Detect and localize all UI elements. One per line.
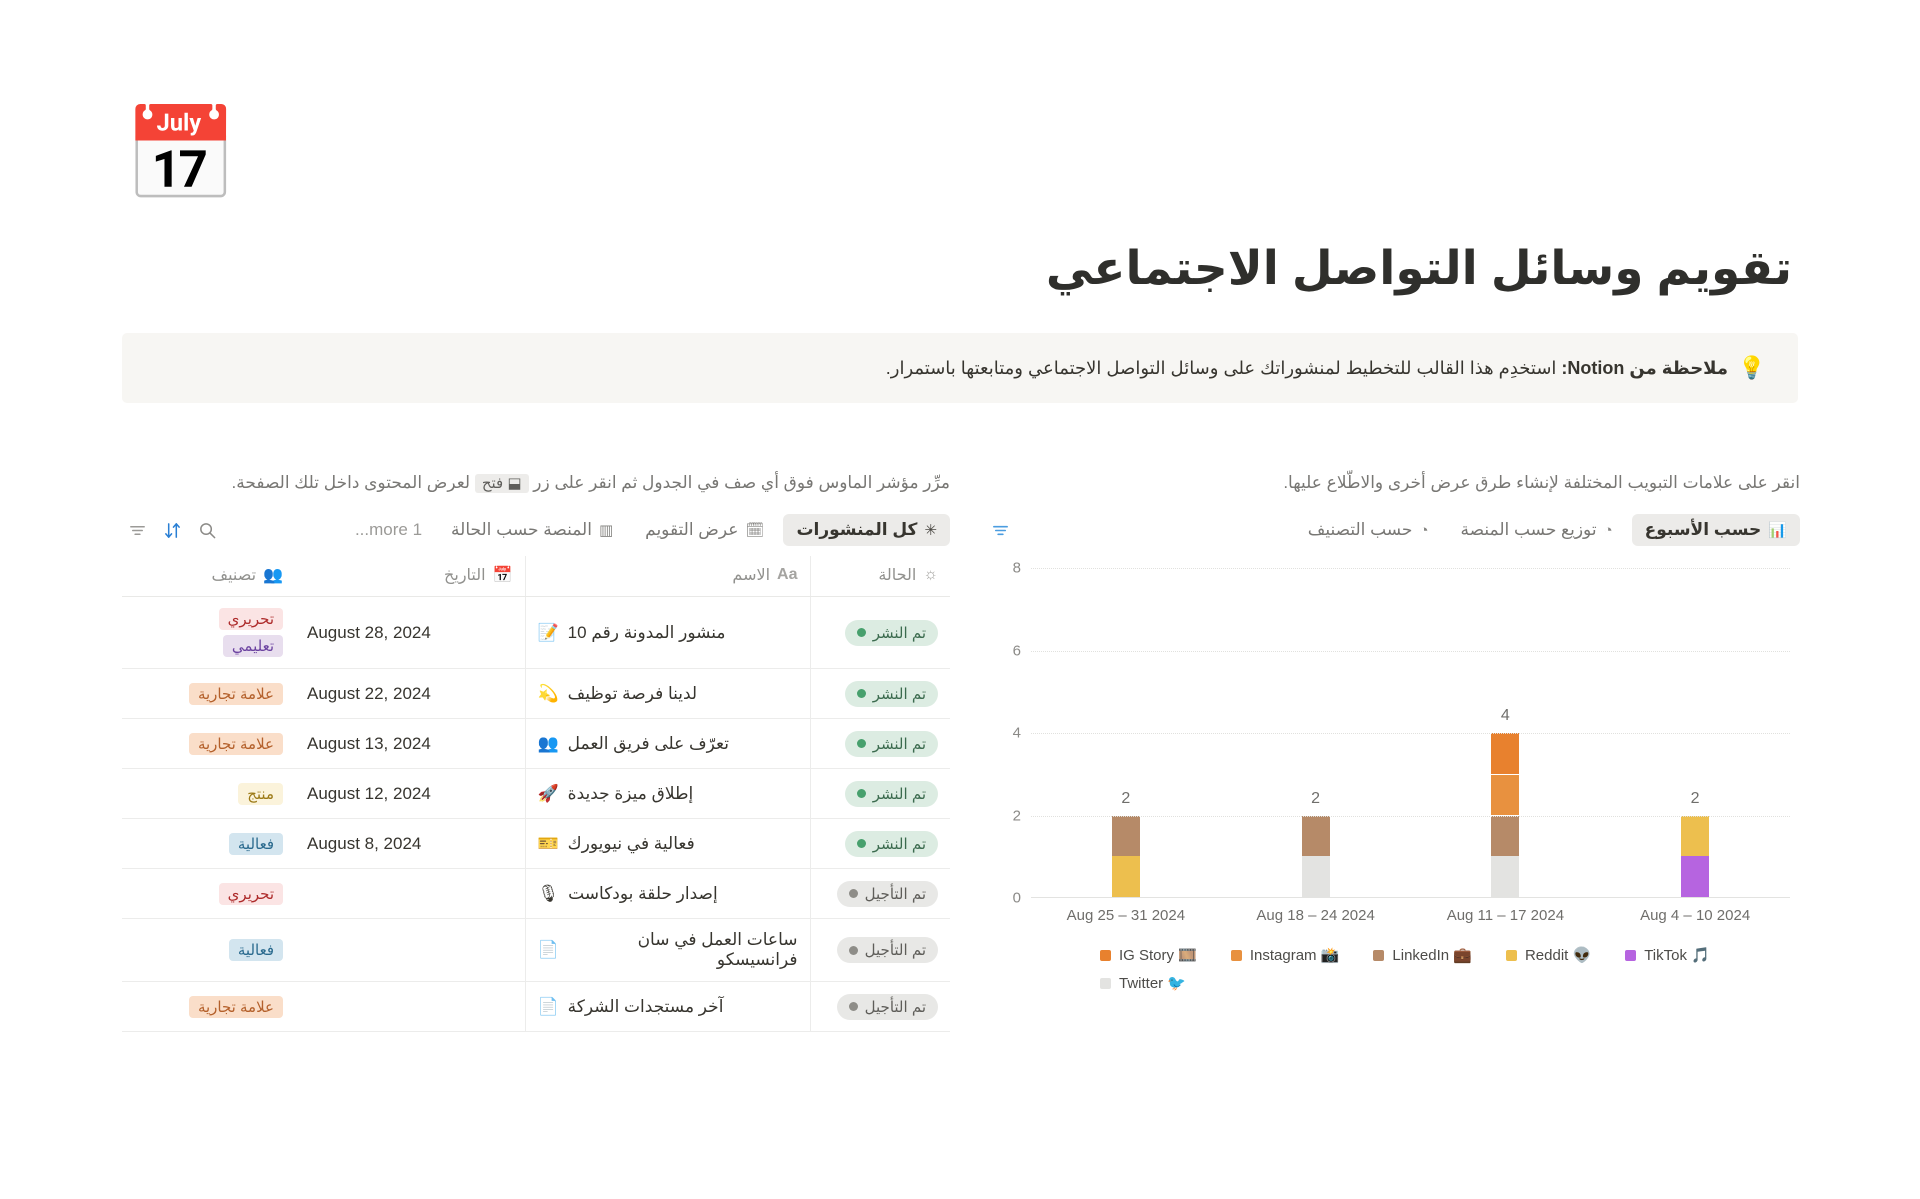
tab-calendar-view-label: عرض التقويم: [645, 520, 738, 540]
chart-y-tick-label: 0: [991, 890, 1021, 907]
post-date: August 13, 2024: [307, 734, 513, 754]
chart-legend-item[interactable]: IG Story 🎞️: [1100, 946, 1197, 964]
page-icon[interactable]: 📅: [128, 100, 238, 210]
status-badge: تم النشر: [845, 781, 938, 807]
status-label: تم النشر: [873, 624, 926, 642]
chart-gridline: [1031, 733, 1790, 734]
chart-gridline: [1031, 568, 1790, 569]
legend-label: TikTok 🎵: [1644, 946, 1710, 964]
chart-toolbar: [985, 521, 1010, 540]
legend-swatch-twitter: [1100, 978, 1111, 989]
more-views-button[interactable]: 1 more...: [345, 514, 432, 546]
right-column: انقر على علامات التبويب المختلفة لإنشاء …: [985, 470, 1800, 992]
notion-page: 📅 تقويم وسائل التواصل الاجتماعي ملاحظة م…: [0, 0, 1920, 1199]
status-badge: تم التأجيل: [837, 881, 938, 907]
chart-stacked-bar[interactable]: [1112, 815, 1140, 898]
status-badge: تم التأجيل: [837, 994, 938, 1020]
chart-y-tick-label: 6: [991, 642, 1021, 659]
tag-chip: علامة تجارية: [189, 996, 283, 1018]
chart-bar-segment-ig_story[interactable]: [1491, 732, 1519, 773]
callout-text: ملاحظة من Notion: استخدِم هذا القالب للت…: [148, 355, 1738, 382]
status-label: تم النشر: [873, 785, 926, 803]
status-dot-icon: [849, 946, 858, 955]
chart-x-tick-label: Aug 4 – 10 2024: [1600, 907, 1790, 924]
chart-y-tick-label: 4: [991, 725, 1021, 742]
status-badge: تم النشر: [845, 620, 938, 646]
bar-chart-icon: 📊: [1768, 521, 1787, 539]
callout-body: استخدِم هذا القالب للتخطيط لمنشوراتك على…: [886, 358, 1557, 378]
tab-by-platform[interactable]: ◔ توزيع حسب المنصة: [1448, 514, 1626, 546]
chart-legend-item[interactable]: LinkedIn 💼: [1373, 946, 1472, 964]
tab-by-week-label: حسب الأسبوع: [1645, 520, 1762, 540]
post-title: منشور المدونة رقم 10: [568, 623, 726, 643]
column-header-date[interactable]: 📅 التاريخ: [295, 556, 525, 597]
page-icon: 📄: [538, 940, 559, 960]
column-header-name-label: الاسم: [732, 565, 770, 585]
hint-prefix: مرِّر مؤشر الماوس فوق أي صف في الجدول ثم…: [533, 473, 950, 492]
chart-bar-segment-twitter[interactable]: [1491, 856, 1519, 897]
chart-bar-segment-instagram[interactable]: [1491, 774, 1519, 815]
cell-name[interactable]: 💫لدينا فرصة توظيف: [525, 669, 810, 719]
status-dot-icon: [857, 839, 866, 848]
chart-bar-segment-reddit[interactable]: [1112, 856, 1140, 897]
legend-label: Twitter 🐦: [1119, 974, 1186, 992]
memo-icon: 📝: [538, 623, 559, 643]
column-header-name[interactable]: Aa الاسم: [525, 556, 810, 597]
table-header-row: ☼ الحالة Aa الاسم 📅 التاريخ: [122, 556, 950, 597]
tab-platform-by-status-label: المنصة حسب الحالة: [451, 520, 592, 540]
status-label: تم التأجيل: [865, 941, 926, 959]
filter-icon[interactable]: [128, 521, 147, 540]
chart-bar-value-label: 4: [1475, 707, 1535, 725]
chart-y-tick-label: 8: [991, 560, 1021, 577]
table-row[interactable]: تم النشر👥تعرّف على فريق العملAugust 13, …: [122, 719, 950, 769]
cell-date[interactable]: August 28, 2024: [295, 597, 525, 669]
cell-tag[interactable]: تحريريتعليمي: [122, 597, 295, 669]
search-icon[interactable]: [198, 521, 217, 540]
tab-by-platform-label: توزيع حسب المنصة: [1461, 520, 1597, 540]
chart-hint: انقر على علامات التبويب المختلفة لإنشاء …: [985, 470, 1800, 496]
open-button-hint: ⬓ فتح: [475, 474, 529, 493]
tab-calendar-view[interactable]: 🗓 عرض التقويم: [632, 514, 777, 546]
left-column: مرِّر مؤشر الماوس فوق أي صف في الجدول ثم…: [122, 470, 950, 1032]
calendar-view-icon: 🗓: [745, 521, 764, 539]
cell-status[interactable]: تم التأجيل: [810, 869, 950, 919]
tag-chip: تعليمي: [223, 635, 283, 657]
chart-bar-value-label: 2: [1665, 790, 1725, 808]
asterisk-icon: ✳: [924, 521, 937, 539]
posts-table: ☼ الحالة Aa الاسم 📅 التاريخ: [122, 556, 950, 1032]
chart-gridline: [1031, 816, 1790, 817]
chart-view-tabs: 📊 حسب الأسبوع ◔ توزيع حسب المنصة ◔ حسب ا…: [985, 510, 1800, 550]
cell-date[interactable]: August 8, 2024: [295, 819, 525, 869]
tag-list: علامة تجارية: [134, 996, 283, 1018]
people-icon: 👥: [538, 734, 559, 754]
chart-x-axis-labels: Aug 4 – 10 2024Aug 11 – 17 2024Aug 18 – …: [1031, 907, 1790, 924]
tag-chip: علامة تجارية: [189, 683, 283, 705]
cell-status[interactable]: تم النشر: [810, 597, 950, 669]
post-title: إطلاق ميزة جديدة: [568, 784, 694, 804]
tag-chip: فعالية: [229, 833, 283, 855]
chart-stacked-bar[interactable]: [1491, 732, 1519, 897]
chart-stacked-bar[interactable]: [1302, 815, 1330, 898]
post-title: تعرّف على فريق العمل: [568, 734, 729, 754]
cell-tag[interactable]: تحريري: [122, 869, 295, 919]
tab-by-week[interactable]: 📊 حسب الأسبوع: [1632, 514, 1800, 546]
cell-name[interactable]: 🚀إطلاق ميزة جديدة: [525, 769, 810, 819]
post-title: آخر مستجدات الشركة: [568, 997, 724, 1017]
post-date: August 12, 2024: [307, 784, 513, 804]
legend-label: LinkedIn 💼: [1392, 946, 1472, 964]
tab-all-posts[interactable]: ✳ كل المنشورات: [783, 514, 950, 546]
chart-bar-segment-tiktok[interactable]: [1681, 856, 1709, 897]
chart-bar-segment-reddit[interactable]: [1681, 815, 1709, 856]
cell-name[interactable]: 📝منشور المدونة رقم 10: [525, 597, 810, 669]
table-row[interactable]: تم النشر🚀إطلاق ميزة جديدةAugust 12, 2024…: [122, 769, 950, 819]
tag-chip: فعالية: [229, 939, 283, 961]
status-dot-icon: [849, 889, 858, 898]
cell-status[interactable]: تم التأجيل: [810, 982, 950, 1032]
status-badge: تم التأجيل: [837, 937, 938, 963]
chart-bar-segment-linkedin[interactable]: [1302, 815, 1330, 856]
cell-date[interactable]: [295, 982, 525, 1032]
cell-date[interactable]: August 12, 2024: [295, 769, 525, 819]
cell-status[interactable]: تم النشر: [810, 819, 950, 869]
tag-chip: علامة تجارية: [189, 733, 283, 755]
chart-bar-segment-twitter[interactable]: [1302, 856, 1330, 897]
tag-list: فعالية: [134, 833, 283, 855]
table-hint: مرِّر مؤشر الماوس فوق أي صف في الجدول ثم…: [122, 470, 950, 496]
status-badge: تم النشر: [845, 731, 938, 757]
chart-gridline: [1031, 651, 1790, 652]
status-label: تم التأجيل: [865, 885, 926, 903]
board-view-icon: ▥: [599, 521, 613, 539]
column-header-status[interactable]: ☼ الحالة: [810, 556, 950, 597]
text-type-icon: Aa: [777, 566, 797, 584]
column-header-tag[interactable]: 👥 تصنيف: [122, 556, 295, 597]
table-row[interactable]: تم النشر📝منشور المدونة رقم 10August 28, …: [122, 597, 950, 669]
chart-stacked-bar[interactable]: [1681, 815, 1709, 898]
table-row[interactable]: تم التأجيل📄ساعات العمل في سان فرانسيسكوف…: [122, 919, 950, 982]
tag-list: منتج: [134, 783, 283, 805]
lightbulb-icon: 💡: [1738, 355, 1772, 381]
tag-list: تحريري: [134, 883, 283, 905]
cell-tag[interactable]: علامة تجارية: [122, 669, 295, 719]
page-title: تقويم وسائل التواصل الاجتماعي: [128, 240, 1792, 296]
database-view-tabs: ✳ كل المنشورات 🗓 عرض التقويم ▥ المنصة حس…: [122, 510, 950, 550]
cell-tag[interactable]: منتج: [122, 769, 295, 819]
tag-chip: تحريري: [219, 608, 283, 630]
status-badge: تم النشر: [845, 681, 938, 707]
status-label: تم النشر: [873, 685, 926, 703]
hint-suffix: لعرض المحتوى داخل تلك الصفحة.: [232, 473, 471, 492]
status-icon: ☼: [923, 566, 938, 584]
status-dot-icon: [857, 739, 866, 748]
legend-label: IG Story 🎞️: [1119, 946, 1197, 964]
cell-status[interactable]: تم التأجيل: [810, 919, 950, 982]
post-title: ساعات العمل في سان فرانسيسكو: [568, 930, 798, 970]
cell-date[interactable]: August 22, 2024: [295, 669, 525, 719]
status-dot-icon: [849, 1002, 858, 1011]
filter-icon[interactable]: [991, 521, 1010, 540]
tag-list: علامة تجارية: [134, 683, 283, 705]
legend-swatch-ig_story: [1100, 950, 1111, 961]
post-title: فعالية في نيويورك: [568, 834, 695, 854]
column-header-tag-label: تصنيف: [212, 565, 257, 585]
tab-platform-by-status[interactable]: ▥ المنصة حسب الحالة: [438, 514, 626, 546]
microphone-icon: 🎙: [538, 884, 560, 904]
status-dot-icon: [857, 789, 866, 798]
chart-legend-item[interactable]: Twitter 🐦: [1100, 974, 1186, 992]
calendar-emoji: 📅: [128, 100, 238, 210]
chart-plot-area: 2422 02468: [1031, 568, 1790, 898]
chart-bar-segment-linkedin[interactable]: [1112, 815, 1140, 856]
tab-by-category-label: حسب التصنيف: [1308, 520, 1413, 540]
cell-name[interactable]: 📄ساعات العمل في سان فرانسيسكو: [525, 919, 810, 982]
table-row[interactable]: تم النشر🎫فعالية في نيويوركAugust 8, 2024…: [122, 819, 950, 869]
pie-chart-icon: ◔: [1604, 522, 1613, 539]
tag-list: علامة تجارية: [134, 733, 283, 755]
chart-legend: IG Story 🎞️Instagram 📸LinkedIn 💼Reddit 👽…: [1100, 946, 1800, 992]
cell-tag[interactable]: فعالية: [122, 919, 295, 982]
weekly-bar-chart: 2422 02468 Aug 4 – 10 2024Aug 11 – 17 20…: [985, 568, 1800, 992]
rocket-icon: 🚀: [538, 784, 559, 804]
column-header-date-label: التاريخ: [444, 565, 486, 585]
table-row[interactable]: تم التأجيل🎙إصدار حلقة بودكاستتحريري: [122, 869, 950, 919]
chart-y-tick-label: 2: [991, 807, 1021, 824]
post-date: August 8, 2024: [307, 834, 513, 854]
tab-by-category[interactable]: ◔ حسب التصنيف: [1295, 514, 1442, 546]
cell-status[interactable]: تم النشر: [810, 769, 950, 819]
chart-x-tick-label: Aug 11 – 17 2024: [1411, 907, 1601, 924]
tag-chip: تحريري: [219, 883, 283, 905]
chart-legend-item[interactable]: TikTok 🎵: [1625, 946, 1710, 964]
post-title: لدينا فرصة توظيف: [568, 684, 697, 704]
status-label: تم النشر: [873, 835, 926, 853]
chart-legend-item[interactable]: Instagram 📸: [1231, 946, 1340, 964]
page-icon: 📄: [538, 997, 559, 1017]
cell-name[interactable]: 👥تعرّف على فريق العمل: [525, 719, 810, 769]
cell-status[interactable]: تم النشر: [810, 719, 950, 769]
post-date: August 28, 2024: [307, 623, 513, 643]
status-badge: تم النشر: [845, 831, 938, 857]
post-date: August 22, 2024: [307, 684, 513, 704]
cell-name[interactable]: 📄آخر مستجدات الشركة: [525, 982, 810, 1032]
cell-name[interactable]: 🎙إصدار حلقة بودكاست: [525, 869, 810, 919]
comet-icon: 💫: [538, 684, 559, 704]
date-icon: 📅: [493, 565, 513, 585]
post-title: إصدار حلقة بودكاست: [568, 884, 718, 904]
multiselect-icon: 👥: [263, 565, 283, 585]
callout-block: ملاحظة من Notion: استخدِم هذا القالب للت…: [122, 333, 1798, 403]
cell-date[interactable]: [295, 869, 525, 919]
tag-list: فعالية: [134, 939, 283, 961]
table-head: ☼ الحالة Aa الاسم 📅 التاريخ: [122, 556, 950, 597]
legend-swatch-tiktok: [1625, 950, 1636, 961]
status-label: تم النشر: [873, 735, 926, 753]
cell-status[interactable]: تم النشر: [810, 669, 950, 719]
status-dot-icon: [857, 628, 866, 637]
cell-name[interactable]: 🎫فعالية في نيويورك: [525, 819, 810, 869]
legend-swatch-reddit: [1506, 950, 1517, 961]
table-row[interactable]: تم النشر💫لدينا فرصة توظيفAugust 22, 2024…: [122, 669, 950, 719]
ticket-icon: 🎫: [538, 834, 559, 854]
tab-all-posts-label: كل المنشورات: [796, 520, 917, 540]
chart-x-tick-label: Aug 18 – 24 2024: [1221, 907, 1411, 924]
table-body: تم النشر📝منشور المدونة رقم 10August 28, …: [122, 597, 950, 1032]
legend-label: Instagram 📸: [1250, 946, 1340, 964]
cell-date[interactable]: [295, 919, 525, 982]
legend-label: Reddit 👽: [1525, 946, 1591, 964]
cell-date[interactable]: August 13, 2024: [295, 719, 525, 769]
chart-bar-segment-linkedin[interactable]: [1491, 815, 1519, 856]
cell-tag[interactable]: علامة تجارية: [122, 719, 295, 769]
legend-swatch-linkedin: [1373, 950, 1384, 961]
chart-bar-value-label: 2: [1096, 790, 1156, 808]
callout-bold-label: ملاحظة من Notion:: [1561, 358, 1728, 378]
chart-legend-item[interactable]: Reddit 👽: [1506, 946, 1591, 964]
status-dot-icon: [857, 689, 866, 698]
cell-tag[interactable]: علامة تجارية: [122, 982, 295, 1032]
sort-icon[interactable]: [163, 521, 182, 540]
column-header-status-label: الحالة: [878, 565, 916, 585]
tag-chip: منتج: [238, 783, 283, 805]
tag-list: تحريريتعليمي: [134, 608, 283, 657]
table-toolbar: [122, 521, 217, 540]
legend-swatch-instagram: [1231, 950, 1242, 961]
table-row[interactable]: تم التأجيل📄آخر مستجدات الشركةعلامة تجاري…: [122, 982, 950, 1032]
pie-chart-icon: ◔: [1419, 522, 1428, 539]
chart-x-tick-label: Aug 25 – 31 2024: [1031, 907, 1221, 924]
status-label: تم التأجيل: [865, 998, 926, 1016]
chart-bar-value-label: 2: [1286, 790, 1346, 808]
cell-tag[interactable]: فعالية: [122, 819, 295, 869]
